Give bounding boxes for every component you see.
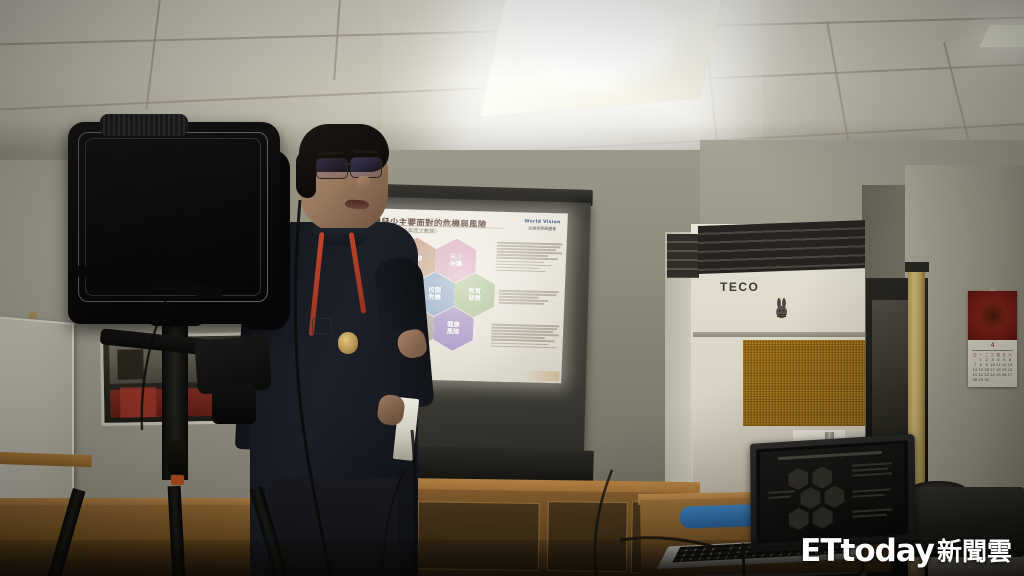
laptop-text-line xyxy=(853,514,887,518)
cabinet-compartment xyxy=(547,501,628,572)
laptop-text-line xyxy=(768,495,790,498)
whiteboard xyxy=(0,316,74,517)
photo-scene: 4 日一二三四五六1234567891011121314151617181920… xyxy=(0,0,1024,576)
camera-grip xyxy=(212,384,256,424)
wall-calendar: 4 日一二三四五六1234567891011121314151617181920… xyxy=(968,291,1017,387)
slide-hexagon-label: 校園危機 xyxy=(428,287,441,302)
slide-hexagon-label: 兒少保護 xyxy=(449,253,462,268)
calendar-grid: 日一二三四五六123456789101112131415161718192021… xyxy=(972,353,1013,381)
calendar-day xyxy=(1001,378,1007,383)
window-red-object xyxy=(120,387,157,418)
tripod-lock-knob[interactable] xyxy=(168,440,186,474)
ac-louver-side xyxy=(667,234,699,278)
laptop-text-line xyxy=(852,467,888,471)
pillar-cap xyxy=(905,262,929,272)
calendar-art xyxy=(968,291,1017,340)
presenter-hair-side xyxy=(296,150,316,198)
laptop-slide-title xyxy=(778,451,882,460)
slide-hexagon-label: 健康風險 xyxy=(447,321,460,336)
calendar-month-number: 4 xyxy=(968,342,1017,349)
laptop-text-line xyxy=(853,508,893,512)
ac-panel-divider xyxy=(693,332,865,337)
cabinet-compartment xyxy=(417,501,540,571)
slide-text-block xyxy=(498,290,559,307)
laptop-hexagon xyxy=(788,467,808,490)
tripod-orange-marker xyxy=(171,475,184,485)
rabbit-logo-icon xyxy=(773,298,791,320)
ac-grille xyxy=(743,340,865,426)
eyeglasses-lens-left xyxy=(316,158,348,179)
laptop-hexagon xyxy=(789,507,809,530)
whiteboard-hook xyxy=(29,312,37,319)
slide-hexagon-label: 教育發展 xyxy=(468,288,481,303)
watermark: ETtoday 新聞雲 xyxy=(800,536,1012,566)
laptop-hexagon xyxy=(824,485,844,508)
calendar-day: 27 xyxy=(1007,373,1013,378)
logo-line-2: 台灣世界展望會 xyxy=(524,225,560,232)
laptop-text-line xyxy=(852,462,892,466)
laptop-hexagon xyxy=(812,466,832,489)
laptop-hexagon xyxy=(813,506,833,529)
slide-corner-accent xyxy=(525,370,559,381)
camera-bag xyxy=(68,122,280,324)
eyeglasses-bridge xyxy=(345,163,352,165)
presenter-nose xyxy=(357,176,370,193)
slide-text-block xyxy=(490,324,559,351)
presenter-legs xyxy=(268,478,398,576)
camera-bag-handle xyxy=(100,114,188,136)
watermark-chinese: 新聞雲 xyxy=(937,537,1012,566)
laptop-text-line xyxy=(852,488,890,492)
watermark-latin: ETtoday xyxy=(800,536,934,566)
world-vision-logo: World Vision 台灣世界展望會 xyxy=(524,219,561,232)
laptop-text-line xyxy=(852,494,884,498)
presenter-pocket xyxy=(312,318,332,334)
laptop-text-line xyxy=(852,472,892,476)
calendar-ornament xyxy=(979,301,1006,330)
ceiling-light-glow xyxy=(520,0,690,95)
eyeglasses-lens-right xyxy=(350,157,382,178)
logo-line-1: World Vision xyxy=(524,219,560,225)
slide-text-block xyxy=(496,242,563,275)
window-interior-object xyxy=(117,349,144,379)
ac-louver xyxy=(698,220,865,274)
laptop-hexagon xyxy=(800,487,820,510)
calendar-rule xyxy=(972,350,1013,351)
laptop-text-line xyxy=(768,490,794,493)
laptop-screen[interactable] xyxy=(760,443,905,540)
ac-brand-label: TECO xyxy=(720,280,759,294)
lanyard-badge xyxy=(338,332,358,354)
